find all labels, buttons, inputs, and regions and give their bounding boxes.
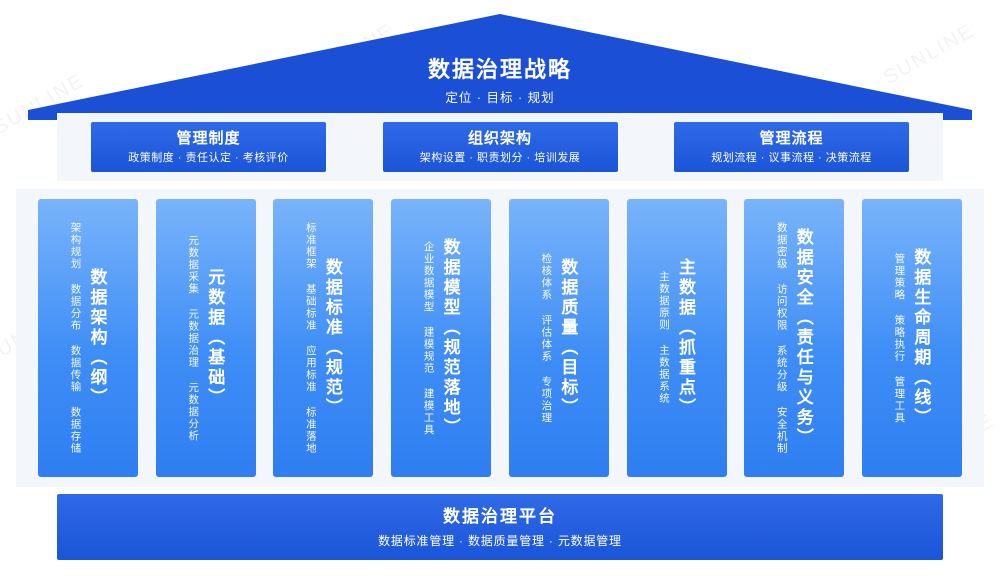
platform-title: 数据治理平台 xyxy=(443,506,557,528)
top-card-subtitle: 规划流程 · 议事流程 · 决策流程 xyxy=(711,151,872,165)
pillar-data-security[interactable]: 数据安全（责任与义务） 数据密级 访问权限 系统分级 安全机制 xyxy=(744,199,844,477)
pillar-title: 数据安全（责任与义务） xyxy=(791,228,815,448)
top-card-title: 管理制度 xyxy=(176,129,240,148)
pillar-data-model[interactable]: 数据模型（规范落地） 企业数据模型 建模规范 建模工具 xyxy=(391,199,491,477)
pillars-band: 数据架构（纲） 架构规划 数据分布 数据传输 数据存储 元数据（基础） 元数据采… xyxy=(16,189,984,487)
diagram-canvas: SUNLINE SUNLINE SUNLINE SUNLINE SUNLINE … xyxy=(0,0,1000,587)
pillar-title: 数据架构（纲） xyxy=(85,268,109,408)
pillar-subtitle: 标准框架 基础标准 应用标准 标准落地 xyxy=(303,222,318,455)
governance-pillars-band: 管理制度 政策制度 · 责任认定 · 考核评价 组织架构 架构设置 · 职责划分… xyxy=(57,113,943,181)
top-card-organization[interactable]: 组织架构 架构设置 · 职责划分 · 培训发展 xyxy=(383,122,618,172)
top-card-management-system[interactable]: 管理制度 政策制度 · 责任认定 · 考核评价 xyxy=(91,122,326,172)
pillar-title: 数据标准（规范） xyxy=(320,258,344,418)
pillar-subtitle: 主数据原则 主数据系统 xyxy=(656,271,671,405)
top-card-subtitle: 政策制度 · 责任认定 · 考核评价 xyxy=(128,151,289,165)
pillar-title: 主数据（抓重点） xyxy=(673,258,697,418)
pillar-subtitle: 企业数据模型 建模规范 建模工具 xyxy=(421,241,436,436)
pillar-title: 数据生命周期（线） xyxy=(908,248,932,428)
pillar-subtitle: 管理策略 策略执行 管理工具 xyxy=(891,253,906,424)
pillar-data-lifecycle[interactable]: 数据生命周期（线） 管理策略 策略执行 管理工具 xyxy=(862,199,962,477)
pillar-subtitle: 元数据采集 元数据治理 元数据分析 xyxy=(185,235,200,442)
pillar-data-standard[interactable]: 数据标准（规范） 标准框架 基础标准 应用标准 标准落地 xyxy=(273,199,373,477)
pillar-subtitle: 数据密级 访问权限 系统分级 安全机制 xyxy=(774,222,789,455)
pillar-metadata[interactable]: 元数据（基础） 元数据采集 元数据治理 元数据分析 xyxy=(156,199,256,477)
platform-base[interactable]: 数据治理平台 数据标准管理 · 数据质量管理 · 元数据管理 xyxy=(57,494,943,560)
pillar-master-data[interactable]: 主数据（抓重点） 主数据原则 主数据系统 xyxy=(627,199,727,477)
pillar-title: 数据模型（规范落地） xyxy=(438,238,462,438)
top-card-subtitle: 架构设置 · 职责划分 · 培训发展 xyxy=(420,151,581,165)
pillar-subtitle: 架构规划 数据分布 数据传输 数据存储 xyxy=(68,222,83,455)
top-card-process[interactable]: 管理流程 规划流程 · 议事流程 · 决策流程 xyxy=(674,122,909,172)
top-card-title: 组织架构 xyxy=(468,129,532,148)
pillar-title: 元数据（基础） xyxy=(202,268,226,408)
top-card-title: 管理流程 xyxy=(759,129,823,148)
platform-subtitle: 数据标准管理 · 数据质量管理 · 元数据管理 xyxy=(378,533,622,549)
pillar-title: 数据质量（目标） xyxy=(555,258,579,418)
roof-shape: 数据治理战略 定位 · 目标 · 规划 xyxy=(28,12,972,120)
pillar-subtitle: 检核体系 评估体系 专项治理 xyxy=(538,253,553,424)
pillar-data-quality[interactable]: 数据质量（目标） 检核体系 评估体系 专项治理 xyxy=(509,199,609,477)
pillar-data-architecture[interactable]: 数据架构（纲） 架构规划 数据分布 数据传输 数据存储 xyxy=(38,199,138,477)
